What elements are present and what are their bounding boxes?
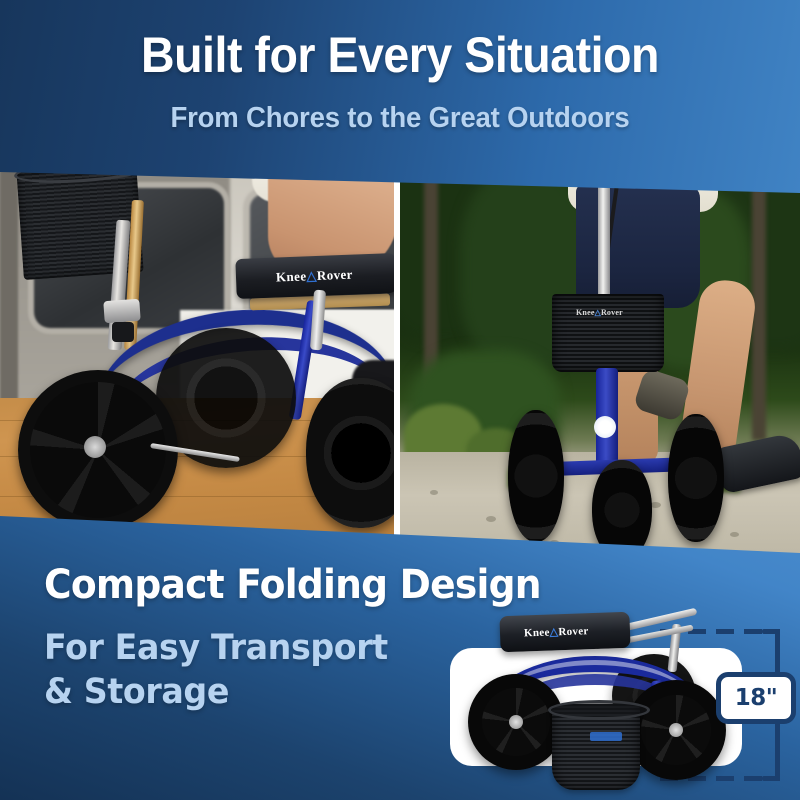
size-badge: 18"	[716, 672, 796, 724]
brand-logo-right-photo: Knee△Rover	[576, 308, 623, 317]
folded-scooter-image: Knee△Rover	[448, 600, 758, 800]
brand-word-knee-right: Knee	[576, 308, 595, 317]
front-wheel-hub-left	[84, 436, 106, 458]
folded-basket-rim	[548, 700, 650, 720]
person-shorts	[576, 184, 700, 308]
scooter-wheel-left-right-photo	[508, 410, 564, 542]
rv-door-edge	[0, 160, 18, 410]
brand-word-knee-product: Knee	[524, 627, 550, 640]
header-banner: Built for Every Situation From Chores to…	[0, 0, 800, 200]
product-feature-poster: Knee△Rover	[0, 0, 800, 800]
brand-word-knee: Knee	[276, 268, 307, 284]
folded-wheel-right-hub	[669, 723, 683, 737]
folded-wheel-left-hub	[509, 715, 523, 729]
folded-knee-pad: Knee△Rover	[499, 612, 630, 653]
brand-logo-left-photo: Knee△Rover	[276, 267, 353, 286]
rover-figure-icon: △	[306, 268, 317, 283]
scooter-wheel-right-right-photo	[668, 414, 724, 542]
brand-word-rover-product: Rover	[558, 625, 589, 638]
bottom-subheading-line1: For Easy Transport	[44, 626, 388, 670]
post-boot	[112, 322, 134, 342]
folded-basket-tag	[590, 732, 622, 741]
brand-word-rover: Rover	[317, 267, 353, 283]
photo-band: Knee△Rover	[0, 160, 800, 560]
bottom-subheading-line2: & Storage	[44, 670, 388, 714]
scooter-sticker	[594, 416, 616, 438]
scooter-basket-right: Knee△Rover	[552, 294, 664, 372]
photo-indoor-rv: Knee△Rover	[0, 160, 394, 560]
post-clamp	[103, 299, 140, 323]
brand-logo-product: Knee△Rover	[524, 624, 589, 639]
page-subtitle: From Chores to the Great Outdoors	[20, 102, 780, 135]
photo-outdoor-trail: Knee△Rover	[400, 160, 800, 560]
page-title: Built for Every Situation	[28, 26, 772, 84]
bottom-subheading: For Easy Transport & Storage	[44, 626, 388, 714]
brand-word-rover-right: Rover	[601, 308, 623, 317]
